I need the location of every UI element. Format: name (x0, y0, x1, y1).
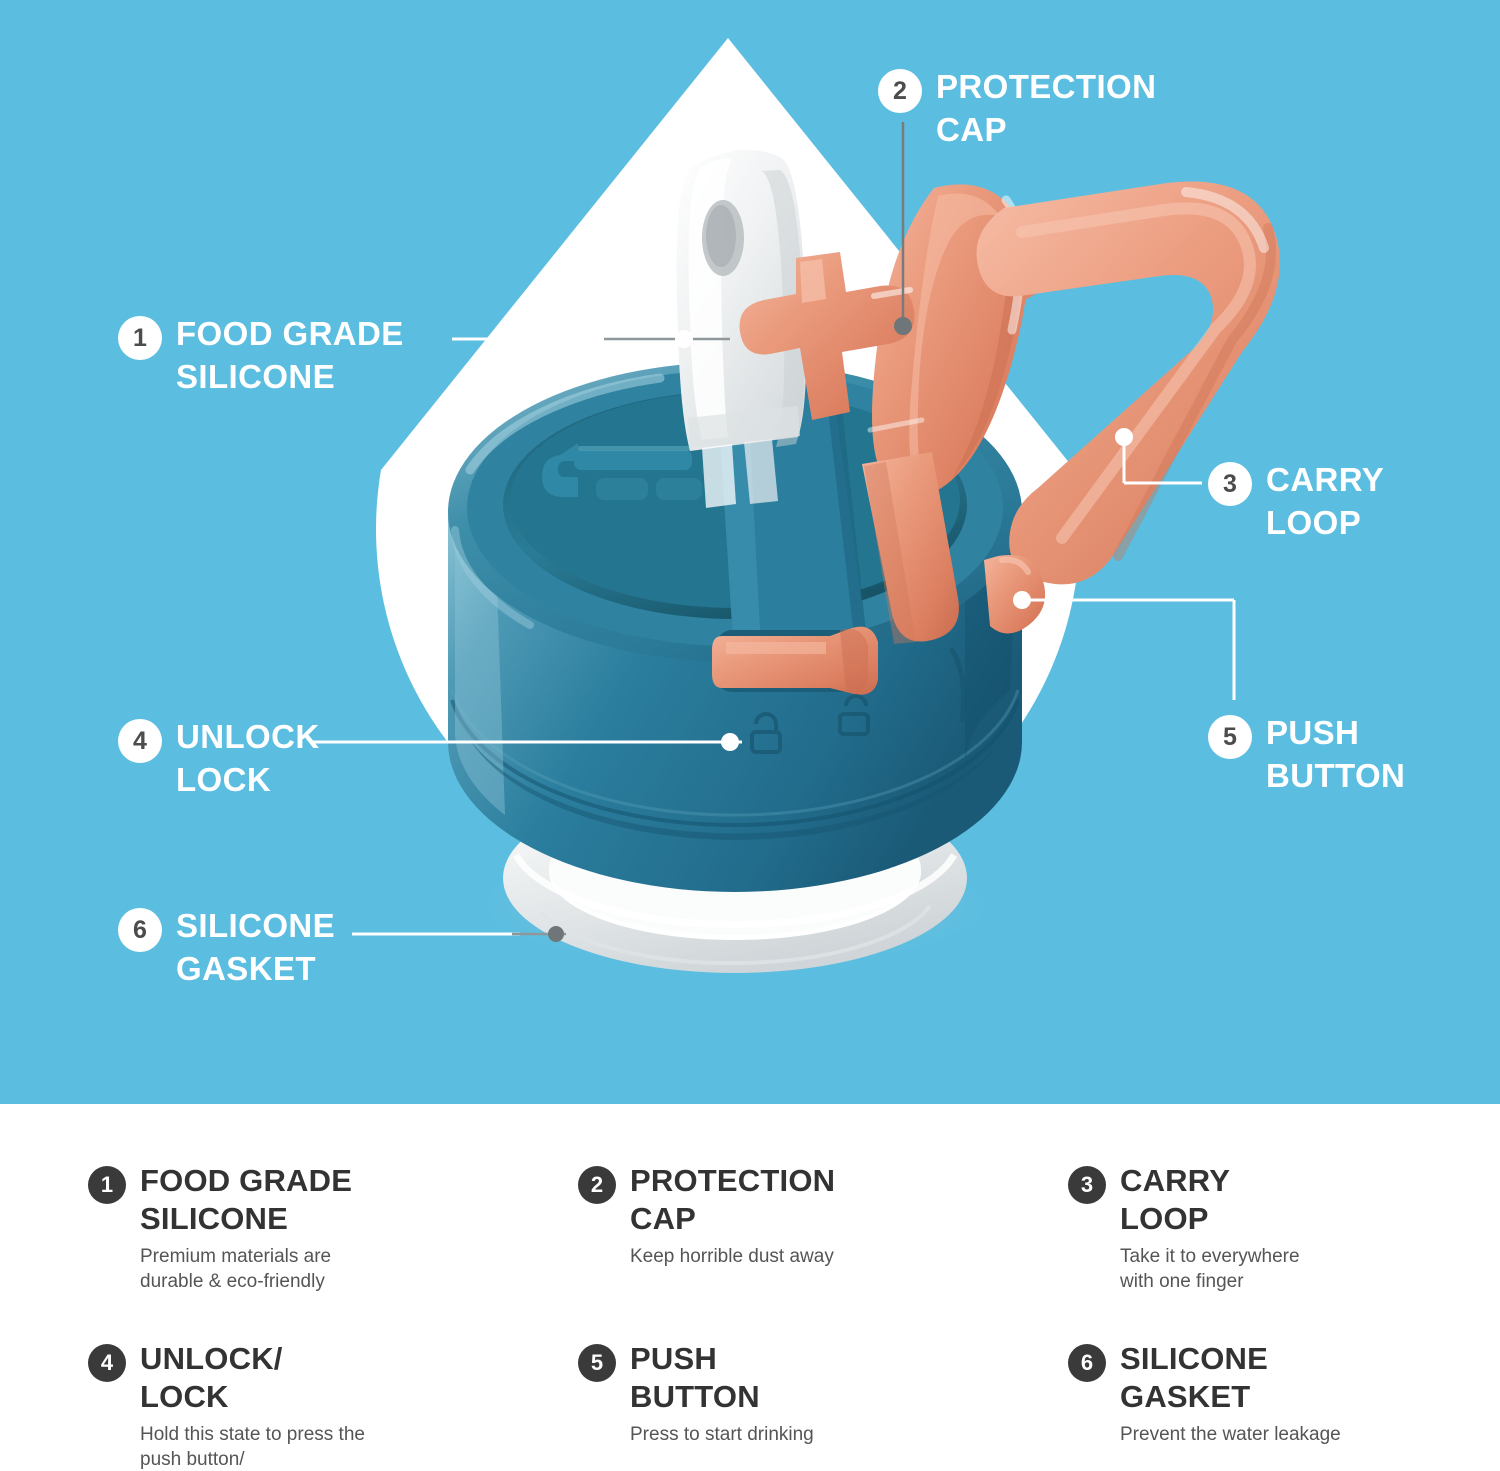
callout-badge-6: 6 (118, 908, 162, 952)
callout-unlock-lock[interactable]: 4 UNLOCK LOCK (118, 716, 320, 802)
callout-label-2: PROTECTION CAP (936, 66, 1156, 152)
callout-label-4: UNLOCK LOCK (176, 716, 320, 802)
callout-food-grade-silicone[interactable]: 1 FOOD GRADE SILICONE (118, 313, 404, 399)
callout-label-1: FOOD GRADE SILICONE (176, 313, 404, 399)
legend-badge-5: 5 (578, 1344, 616, 1382)
callout-badge-2: 2 (878, 69, 922, 113)
legend-desc-5: Press to start drinking (630, 1423, 814, 1448)
legend-desc-3: Take it to everywhere with one finger (1120, 1245, 1300, 1294)
legend-body-5: PUSH BUTTON Press to start drinking (630, 1340, 814, 1448)
legend-title-6: SILICONE GASKET (1120, 1340, 1341, 1417)
legend-title-5: PUSH BUTTON (630, 1340, 814, 1417)
legend-desc-4: Hold this state to press the push button… (140, 1423, 368, 1471)
legend-badge-4: 4 (88, 1344, 126, 1382)
legend-badge-3: 3 (1068, 1166, 1106, 1204)
legend-body-4: UNLOCK/ LOCK Hold this state to press th… (140, 1340, 368, 1471)
infographic-page: 1 FOOD GRADE SILICONE 2 PROTECTION CAP 3… (0, 0, 1500, 1471)
legend-body-1: FOOD GRADE SILICONE Premium materials ar… (140, 1162, 352, 1294)
callout-push-button[interactable]: 5 PUSH BUTTON (1208, 712, 1405, 798)
legend-item-protection-cap[interactable]: 2 PROTECTION CAP Keep horrible dust away (578, 1162, 1068, 1322)
callout-badge-1: 1 (118, 316, 162, 360)
legend-desc-2: Keep horrible dust away (630, 1245, 835, 1270)
legend-badge-2: 2 (578, 1166, 616, 1204)
callout-carry-loop[interactable]: 3 CARRY LOOP (1208, 459, 1384, 545)
feature-legend-section: 1 FOOD GRADE SILICONE Premium materials … (0, 1104, 1500, 1471)
legend-desc-1: Premium materials are durable & eco-frie… (140, 1245, 352, 1294)
callout-protection-cap[interactable]: 2 PROTECTION CAP (878, 66, 1156, 152)
legend-body-3: CARRY LOOP Take it to everywhere with on… (1120, 1162, 1300, 1294)
legend-body-6: SILICONE GASKET Prevent the water leakag… (1120, 1340, 1341, 1448)
legend-body-2: PROTECTION CAP Keep horrible dust away (630, 1162, 835, 1270)
legend-item-food-grade-silicone[interactable]: 1 FOOD GRADE SILICONE Premium materials … (88, 1162, 578, 1322)
legend-title-2: PROTECTION CAP (630, 1162, 835, 1239)
legend-desc-6: Prevent the water leakage (1120, 1423, 1341, 1448)
legend-item-carry-loop[interactable]: 3 CARRY LOOP Take it to everywhere with … (1068, 1162, 1500, 1322)
legend-title-1: FOOD GRADE SILICONE (140, 1162, 352, 1239)
callout-label-3: CARRY LOOP (1266, 459, 1384, 545)
legend-item-unlock-lock[interactable]: 4 UNLOCK/ LOCK Hold this state to press … (88, 1340, 578, 1471)
legend-badge-6: 6 (1068, 1344, 1106, 1382)
callout-label-5: PUSH BUTTON (1266, 712, 1405, 798)
legend-title-3: CARRY LOOP (1120, 1162, 1300, 1239)
callout-badge-5: 5 (1208, 715, 1252, 759)
hero-section: 1 FOOD GRADE SILICONE 2 PROTECTION CAP 3… (0, 0, 1500, 1104)
legend-item-push-button[interactable]: 5 PUSH BUTTON Press to start drinking (578, 1340, 1068, 1471)
callout-silicone-gasket[interactable]: 6 SILICONE GASKET (118, 905, 335, 991)
legend-badge-1: 1 (88, 1166, 126, 1204)
callout-badge-3: 3 (1208, 462, 1252, 506)
legend-title-4: UNLOCK/ LOCK (140, 1340, 368, 1417)
legend-item-silicone-gasket[interactable]: 6 SILICONE GASKET Prevent the water leak… (1068, 1340, 1500, 1471)
callout-label-6: SILICONE GASKET (176, 905, 335, 991)
callout-badge-4: 4 (118, 719, 162, 763)
